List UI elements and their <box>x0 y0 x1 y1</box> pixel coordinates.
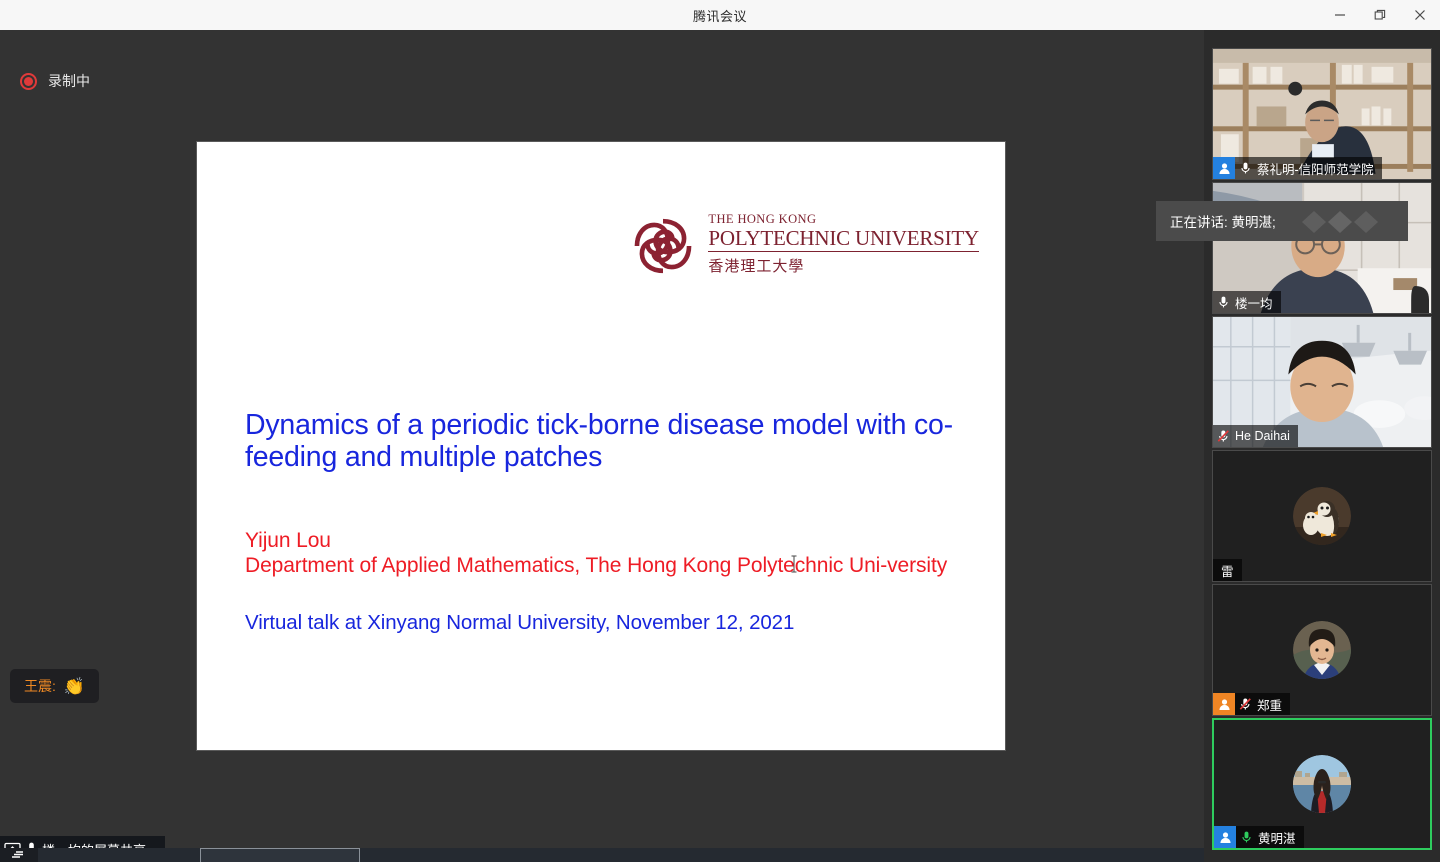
participant-tile[interactable]: He Daihai <box>1212 316 1432 448</box>
participant-nameplate: 郑重 <box>1213 693 1290 715</box>
participant-tile[interactable]: 蔡礼明-信阳师范学院 <box>1212 48 1432 180</box>
close-button[interactable] <box>1400 0 1440 30</box>
microphone-icon <box>1235 157 1255 179</box>
host-badge-icon <box>1214 826 1236 848</box>
participant-nameplate: 蔡礼明-信阳师范学院 <box>1213 157 1382 179</box>
window-title-bar: 腾讯会议 <box>0 0 1440 30</box>
participant-name: 楼一均 <box>1233 293 1281 312</box>
speaking-tooltip-text: 正在讲话: 黄明湛; <box>1170 211 1276 231</box>
taskbar-app-icon[interactable] <box>0 848 38 862</box>
maximize-restore-button[interactable] <box>1360 0 1400 30</box>
slide-title: Dynamics of a periodic tick-borne diseas… <box>245 410 957 474</box>
participant-name: He Daihai <box>1233 429 1298 443</box>
participant-tile-active-speaker[interactable]: 黄明湛 <box>1212 718 1432 850</box>
minimize-button[interactable] <box>1320 0 1360 30</box>
participant-nameplate: 雷 <box>1213 559 1242 581</box>
polyu-logo-icon <box>632 216 694 276</box>
slide-venue: Virtual talk at Xinyang Normal Universit… <box>245 611 957 635</box>
polyu-line-3: 香港理工大學 <box>708 255 979 276</box>
polyu-line-1: THE HONG KONG <box>708 212 979 227</box>
presentation-slide: THE HONG KONG POLYTECHNIC UNIVERSITY 香港理… <box>197 142 1005 750</box>
avatar <box>1293 487 1351 545</box>
avatar <box>1293 621 1351 679</box>
polyu-wordmark: THE HONG KONG POLYTECHNIC UNIVERSITY 香港理… <box>708 212 979 276</box>
chat-message-toast[interactable]: 王震: 👏 <box>10 669 99 703</box>
chat-sender: 王震: <box>24 676 56 696</box>
slide-affiliation: Department of Applied Mathematics, The H… <box>245 554 957 579</box>
participant-tile[interactable]: 雷 <box>1212 450 1432 582</box>
participant-strip[interactable]: 蔡礼明-信阳师范学院 <box>1204 30 1440 862</box>
slide-author: Yijun Lou <box>245 529 957 554</box>
microphone-muted-icon <box>1213 425 1233 447</box>
slide-text-block: Dynamics of a periodic tick-borne diseas… <box>245 410 957 635</box>
polyu-logo: THE HONG KONG POLYTECHNIC UNIVERSITY 香港理… <box>632 212 979 276</box>
meeting-window: 录制中 THE HONG KONG POLYTECHNIC UNIVERSITY… <box>0 30 1440 862</box>
window-title: 腾讯会议 <box>693 6 747 25</box>
participant-nameplate: 楼一均 <box>1213 291 1281 313</box>
clapping-hands-icon: 👏 <box>64 678 85 695</box>
participant-nameplate: 黄明湛 <box>1214 826 1304 848</box>
shared-screen-area[interactable]: THE HONG KONG POLYTECHNIC UNIVERSITY 香港理… <box>0 30 1204 832</box>
microphone-icon <box>1213 291 1233 313</box>
taskbar-window-button[interactable] <box>200 848 360 862</box>
speaking-tooltip: 正在讲话: 黄明湛; <box>1156 201 1408 241</box>
microphone-active-icon <box>1236 826 1256 848</box>
microphone-muted-icon <box>1235 693 1255 715</box>
avatar <box>1293 755 1351 813</box>
host-badge-icon <box>1213 157 1235 179</box>
chevrons-icon <box>1300 209 1392 235</box>
window-controls <box>1320 0 1440 30</box>
participant-badge-icon <box>1213 693 1235 715</box>
participant-nameplate: He Daihai <box>1213 425 1298 447</box>
participant-name: 雷 <box>1213 561 1242 580</box>
participant-name: 蔡礼明-信阳师范学院 <box>1255 159 1382 178</box>
participant-name: 黄明湛 <box>1256 828 1304 847</box>
polyu-line-2: POLYTECHNIC UNIVERSITY <box>708 227 979 252</box>
participant-name: 郑重 <box>1255 695 1290 714</box>
participant-tile[interactable]: 郑重 <box>1212 584 1432 716</box>
